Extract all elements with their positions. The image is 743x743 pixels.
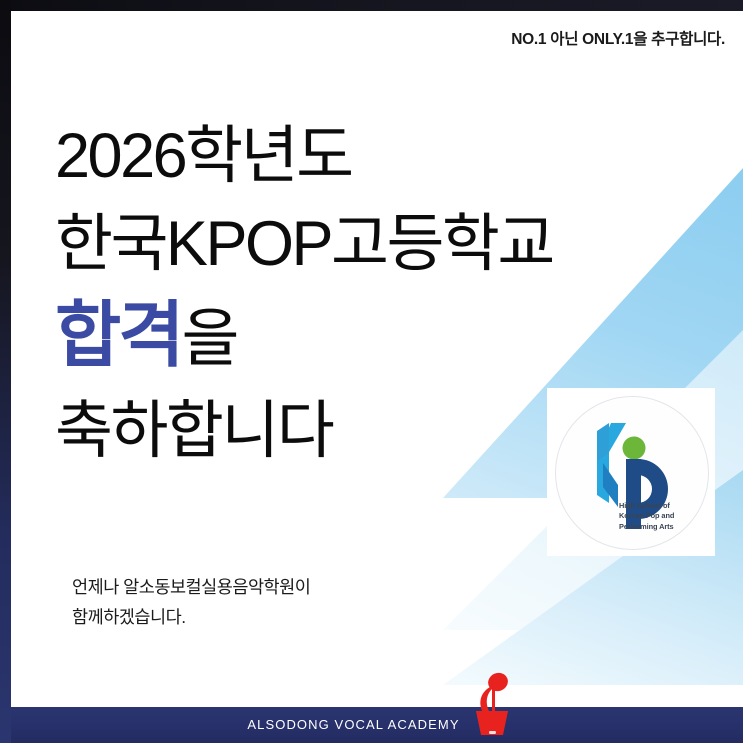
footer-academy-name: ALSODONG VOCAL ACADEMY <box>0 707 743 743</box>
headline-particle: 을 <box>181 304 236 374</box>
left-edge-bar <box>0 0 11 743</box>
footer-bar: ALSODONG VOCAL ACADEMY <box>0 707 743 743</box>
logo-caption-line-3: Performing Arts <box>619 522 674 532</box>
headline-line-year: 2026학년도 <box>55 112 553 200</box>
sub-message-line-2: 함께하겠습니다. <box>72 602 310 632</box>
sub-message-line-1: 언제나 알소동보컬실용음악학원이 <box>72 572 310 602</box>
headline-line-school: 한국KPOP고등학교 <box>55 200 553 288</box>
red-flowerpot-icon <box>470 671 514 737</box>
header-tagline: NO.1 아닌 ONLY.1을 추구합니다. <box>511 27 725 49</box>
headline-line-pass: 합격을 <box>55 288 553 387</box>
headline-block: 2026학년도 한국KPOP고등학교 합격을 축하합니다 <box>55 112 553 475</box>
headline-accent-word: 합격 <box>55 296 181 376</box>
logo-caption-line-1: High School of <box>619 501 674 511</box>
poster-canvas: NO.1 아닌 ONLY.1을 추구합니다. 2026학년도 한국KPOP고등학… <box>0 0 743 743</box>
sub-message-block: 언제나 알소동보컬실용음악학원이 함께하겠습니다. <box>72 572 310 632</box>
top-edge-bar <box>0 0 743 11</box>
school-logo-caption: High School of Korean Pop and Performing… <box>619 501 674 532</box>
flowerpot-glyph <box>470 671 514 737</box>
logo-caption-line-2: Korean Pop and <box>619 511 674 521</box>
school-logo-card: High School of Korean Pop and Performing… <box>547 388 715 556</box>
headline-line-congrats: 축하합니다 <box>55 387 553 475</box>
